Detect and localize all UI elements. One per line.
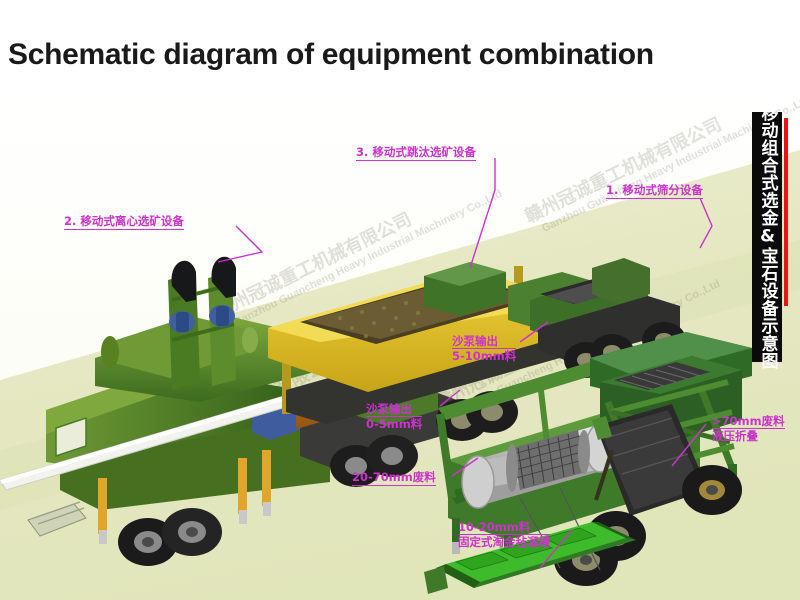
flow-label-line1: 20-70mm废料 [352, 470, 436, 486]
flow-label-waste-20-70: 20-70mm废料 [352, 470, 436, 486]
vertical-caption-box: 移动组合式选金&宝石设备示意图 [752, 112, 782, 362]
flow-label-line1: >70mm废料 [712, 414, 785, 429]
callout-centrifugal-text: 2. 移动式离心选矿设备 [64, 214, 184, 230]
callout-screening-text: 1. 移动式筛分设备 [606, 183, 703, 199]
flow-label-line1: 10-20mm料 [458, 520, 550, 535]
flow-label-line2: 固定式淘金毡溜槽 [458, 535, 550, 549]
callout-jig: 3. 移动式跳汰选矿设备 [356, 145, 476, 161]
callout-screening: 1. 移动式筛分设备 [606, 183, 703, 199]
flow-label-pump-out-5-10: 沙泵输出 5-10mm料 [452, 334, 516, 364]
flow-label-pump-out-0-5: 沙泵输出 0-5mm料 [366, 402, 422, 432]
flow-label-waste-over-70: >70mm废料 液压折叠 [712, 414, 785, 444]
flow-label-line1: 沙泵输出 [452, 334, 516, 349]
page-title: Schematic diagram of equipment combinati… [8, 38, 654, 72]
vertical-caption-text: 移动组合式选金&宝石设备示意图 [759, 104, 776, 370]
equipment-layer [0, 90, 800, 600]
flow-label-line1: 沙泵输出 [366, 402, 422, 417]
flow-label-line2: 5-10mm料 [452, 349, 516, 363]
flow-label-line2: 0-5mm料 [366, 417, 422, 431]
flow-label-sluice-10-20: 10-20mm料 固定式淘金毡溜槽 [458, 520, 550, 550]
schematic-page: Schematic diagram of equipment combinati… [0, 0, 800, 600]
flow-label-line2: 液压折叠 [712, 429, 785, 443]
caption-accent-bar [784, 118, 788, 306]
callout-jig-text: 3. 移动式跳汰选矿设备 [356, 145, 476, 161]
scene-illustration: 赣州冠诚重工机械有限公司 Ganzhou Guancheng Heavy Ind… [0, 90, 800, 600]
callout-centrifugal: 2. 移动式离心选矿设备 [64, 214, 184, 230]
